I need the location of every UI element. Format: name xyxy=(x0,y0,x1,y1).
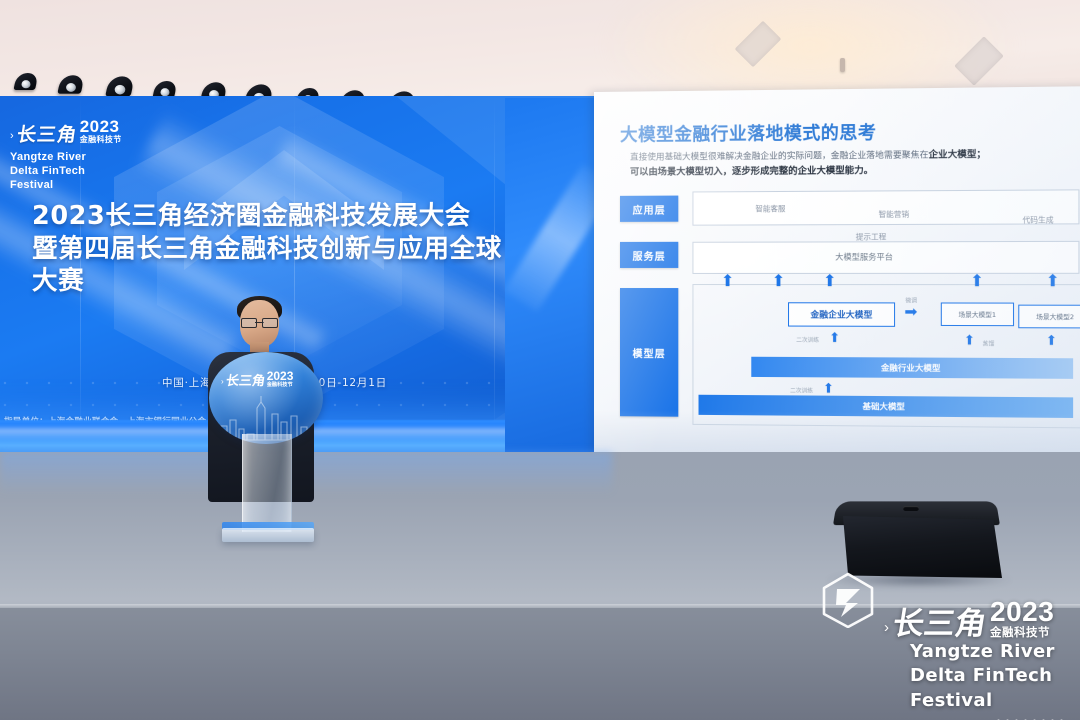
up-arrow-icon: ⬆ xyxy=(964,333,975,346)
stage-light xyxy=(59,75,83,94)
logo-en-line1: Yangtze River xyxy=(10,150,135,164)
layer-label-service: 服务层 xyxy=(620,242,678,268)
lectern-stem xyxy=(242,434,292,532)
logo-year: 2023 xyxy=(267,370,294,382)
application-layer-box xyxy=(692,189,1079,225)
up-arrow-icon: ⬆ xyxy=(721,274,735,290)
app-item-code-gen: 代码生成 xyxy=(1022,214,1053,225)
lectern-base xyxy=(222,528,314,542)
festival-logo: › 长三角 2023 金融科技节 Yangtze River Delta Fin… xyxy=(10,118,135,192)
logo-chinese-name: 长三角 xyxy=(891,609,989,640)
logo-arrow-icon: › xyxy=(10,131,14,142)
monitor-handle xyxy=(903,506,919,511)
logo-en-line3: Festival xyxy=(10,178,135,192)
industry-model-band: 金融行业大模型 xyxy=(751,357,1073,379)
logo-arrow-icon: › xyxy=(884,620,889,635)
layer-label-application: 应用层 xyxy=(620,196,678,222)
layer-label-model: 模型层 xyxy=(620,288,678,417)
event-title: 2023长三角经济圈金融科技发展大会 暨第四届长三角金融科技创新与应用全球大赛 xyxy=(32,200,512,298)
up-arrow-icon: ⬆ xyxy=(1046,274,1060,290)
enterprise-model-box: 金融企业大模型 xyxy=(788,302,895,327)
conference-stage-photo: › 长三角 2023 金融科技节 Yangtze River Delta Fin… xyxy=(0,0,1080,720)
watermark-en-line2: Delta FinTech xyxy=(910,664,1055,688)
arrow-label-secondary-training: 二次训练 xyxy=(796,336,819,344)
up-arrow-icon: ⬆ xyxy=(823,274,837,290)
logo-year: 2023 xyxy=(990,598,1054,626)
logo-chinese-name: 长三角 xyxy=(15,126,78,145)
logo-arrow-icon: › xyxy=(221,378,224,386)
slide-subtitle-line2: 可以由场景大模型切入，逐步形成完整的企业大模型能力。 xyxy=(630,162,1080,180)
glasses-icon xyxy=(241,318,278,326)
slide-title: 大模型金融行业落地模式的思考 xyxy=(620,119,876,147)
lectern-logo-panel: › 长三角 2023 金融科技节 xyxy=(209,352,323,444)
arrow-label-secondary-training: 二次训练 xyxy=(790,386,813,394)
event-title-line2: 暨第四届长三角金融科技创新与应用全球大赛 xyxy=(32,233,512,298)
stage-light xyxy=(15,73,37,90)
logo-chinese-name: 长三角 xyxy=(225,375,266,388)
service-item-platform: 大模型服务平台 xyxy=(835,251,893,262)
watermark-en-line1: Yangtze River xyxy=(910,640,1055,664)
arrow-label-distill: 蒸馏 xyxy=(983,339,995,347)
scene-model-2-box: 场景大模型2 xyxy=(1018,305,1080,329)
backdrop-side-pillar xyxy=(505,98,597,468)
up-arrow-icon: ⬆ xyxy=(970,274,984,290)
event-title-line1: 2023长三角经济圈金融科技发展大会 xyxy=(32,200,512,233)
logo-subtitle: 金融科技节 xyxy=(80,135,122,145)
slide-subtitle-bold-tail: 企业大模型； xyxy=(929,149,987,161)
stage-light-lens xyxy=(22,80,31,88)
stage-light-lens xyxy=(66,83,76,92)
slide-subtitle-plain: 直接使用基础大模型很难解决金融企业的实际问题，金融企业落地需要聚焦在 xyxy=(630,150,928,162)
up-arrow-icon: ⬆ xyxy=(823,381,834,394)
lectern: › 长三角 2023 金融科技节 xyxy=(209,352,327,560)
scene-model-1-box: 场景大模型1 xyxy=(941,302,1014,326)
logo-subtitle: 金融科技节 xyxy=(990,626,1054,640)
watermark-en: Yangtze River Delta FinTech Festival xyxy=(910,640,1055,713)
right-arrow-icon: ➡ xyxy=(904,304,917,319)
up-arrow-icon: ⬆ xyxy=(829,331,840,344)
slide-subtitle: 直接使用基础大模型很难解决金融企业的实际问题，金融企业落地需要聚焦在企业大模型；… xyxy=(630,146,1080,180)
up-arrow-icon: ⬆ xyxy=(1046,333,1058,346)
watermark-dot-pattern xyxy=(994,716,1064,720)
stage-light-lens xyxy=(161,88,170,96)
lectern-festival-logo: › 长三角 2023 金融科技节 xyxy=(221,370,313,388)
app-item-marketing: 智能营销 xyxy=(879,209,910,220)
arrow-label-fine-tune: 微调 xyxy=(905,296,917,304)
logo-year: 2023 xyxy=(80,118,120,135)
watermark-en-line3: Festival xyxy=(910,689,1055,713)
projection-screen: 大模型金融行业落地模式的思考 直接使用基础大模型很难解决金融企业的实际问题，金融… xyxy=(594,86,1080,474)
logo-en-line2: Delta FinTech xyxy=(10,164,135,178)
logo-subtitle: 金融科技节 xyxy=(267,382,294,388)
up-arrow-icon: ⬆ xyxy=(772,274,786,290)
festival-watermark: › 长三角 2023 金融科技节 Yangtze River Delta Fin… xyxy=(812,568,1080,720)
festival-mark-icon xyxy=(820,572,876,628)
ceiling-fixture xyxy=(840,58,845,72)
watermark-logo-row: › 长三角 2023 金融科技节 xyxy=(884,598,1054,640)
stage-light xyxy=(107,77,132,97)
app-item-customer-service: 智能客服 xyxy=(755,203,785,214)
